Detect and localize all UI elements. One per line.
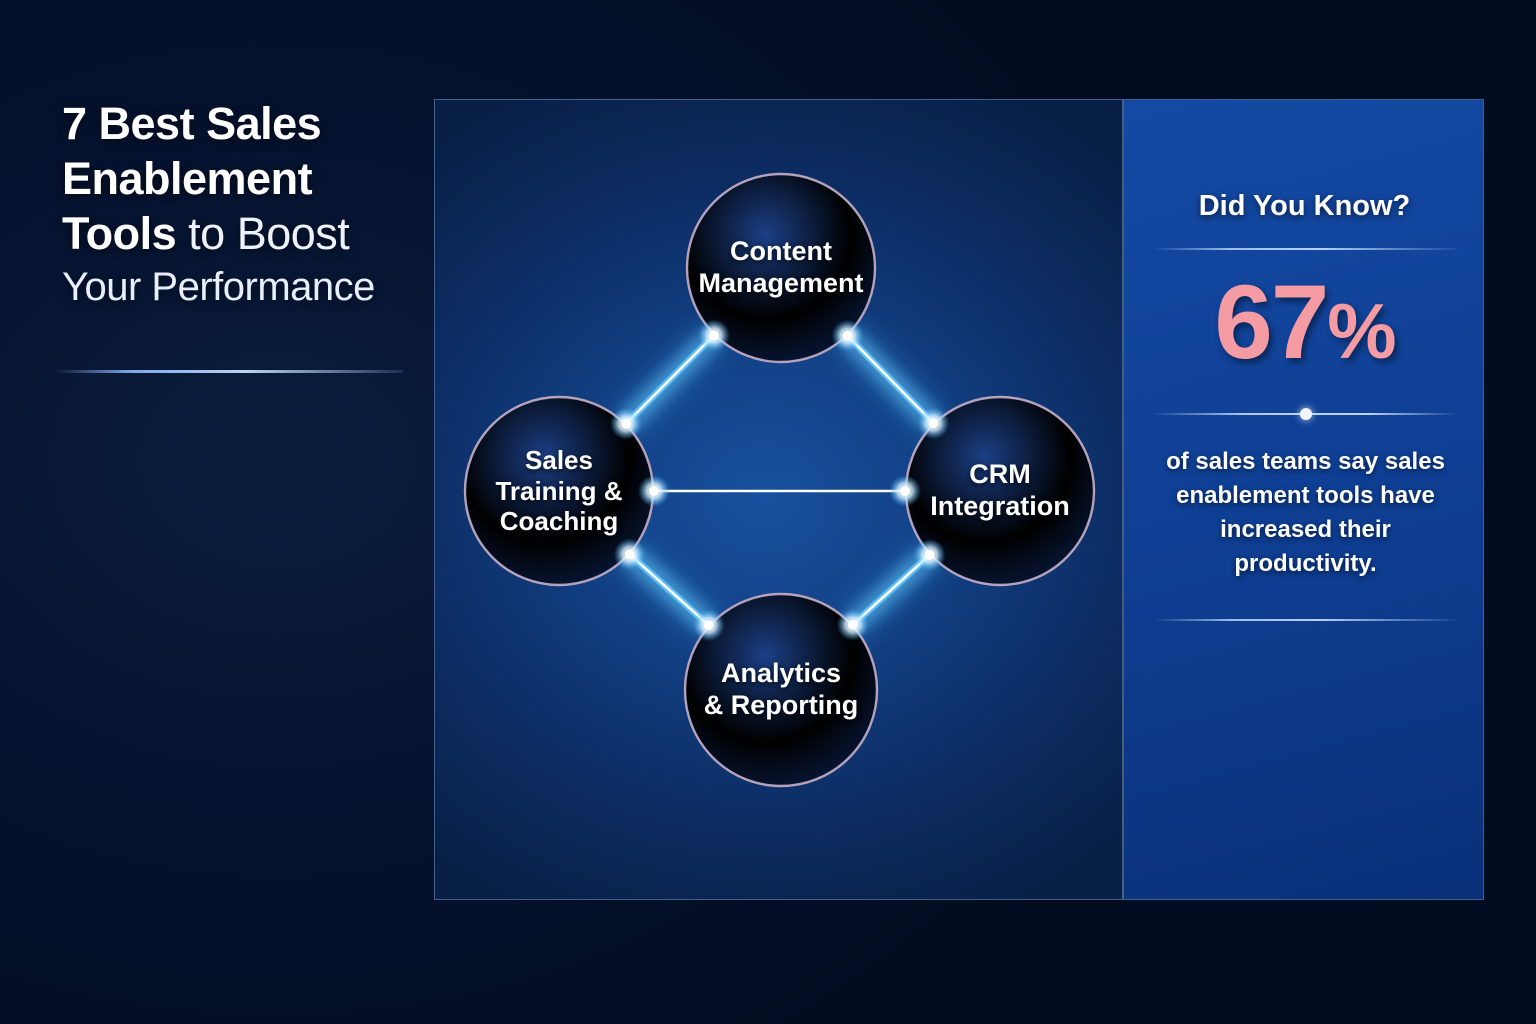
connection-endpoint-dot (709, 330, 719, 340)
title-line-4: Your Performance (62, 261, 414, 313)
connection-endpoint-dot (704, 620, 714, 630)
connections-layer (626, 335, 933, 625)
stat-divider-top (1154, 248, 1457, 250)
stat-dot-divider-dot (1300, 408, 1312, 420)
stat-big-number: 67% (1124, 270, 1484, 375)
did-you-know-heading: Did You Know? (1124, 190, 1484, 223)
stat-divider-bottom (1154, 619, 1457, 621)
title-line-3-bold-text: Tools (62, 208, 176, 259)
title-line-3-light-text: to Boost (176, 208, 349, 259)
connection-endpoint-dot (928, 418, 938, 428)
connection-endpoint-dot (621, 419, 631, 429)
stat-sidebar: Did You Know? 67% of sales teams say sal… (1122, 100, 1484, 900)
nodes-layer (465, 174, 1094, 786)
page-title: 7 Best Sales Enablement Tools to Boost Y… (62, 96, 414, 313)
title-line-1-text: 7 Best Sales (62, 98, 321, 149)
connection-endpoint-dot (649, 486, 659, 496)
title-line-3: Tools to Boost (62, 206, 414, 261)
diagram-svg (435, 100, 1122, 900)
connection-endpoint-dot (843, 331, 853, 341)
connection-endpoint-dot (625, 549, 635, 559)
title-line-1: 7 Best Sales (62, 96, 414, 151)
connection-line (626, 335, 714, 423)
connection-line (848, 336, 934, 423)
connection-endpoint-dot (848, 620, 858, 630)
title-underline-rule (55, 370, 403, 373)
node-diagram: ContentManagementCRMIntegrationAnalytics… (435, 100, 1122, 899)
title-line-2: Enablement (62, 151, 414, 206)
connection-endpoint-dot (900, 486, 910, 496)
stat-value: 67 (1214, 264, 1327, 381)
stat-percent-sign: % (1327, 287, 1394, 375)
stat-dot-divider (1152, 408, 1459, 420)
stat-caption: of sales teams say sales enablement tool… (1148, 445, 1463, 581)
main-panel: ContentManagementCRMIntegrationAnalytics… (434, 99, 1484, 900)
connection-endpoint-dot (925, 550, 935, 560)
title-line-2-text: Enablement (62, 153, 312, 204)
